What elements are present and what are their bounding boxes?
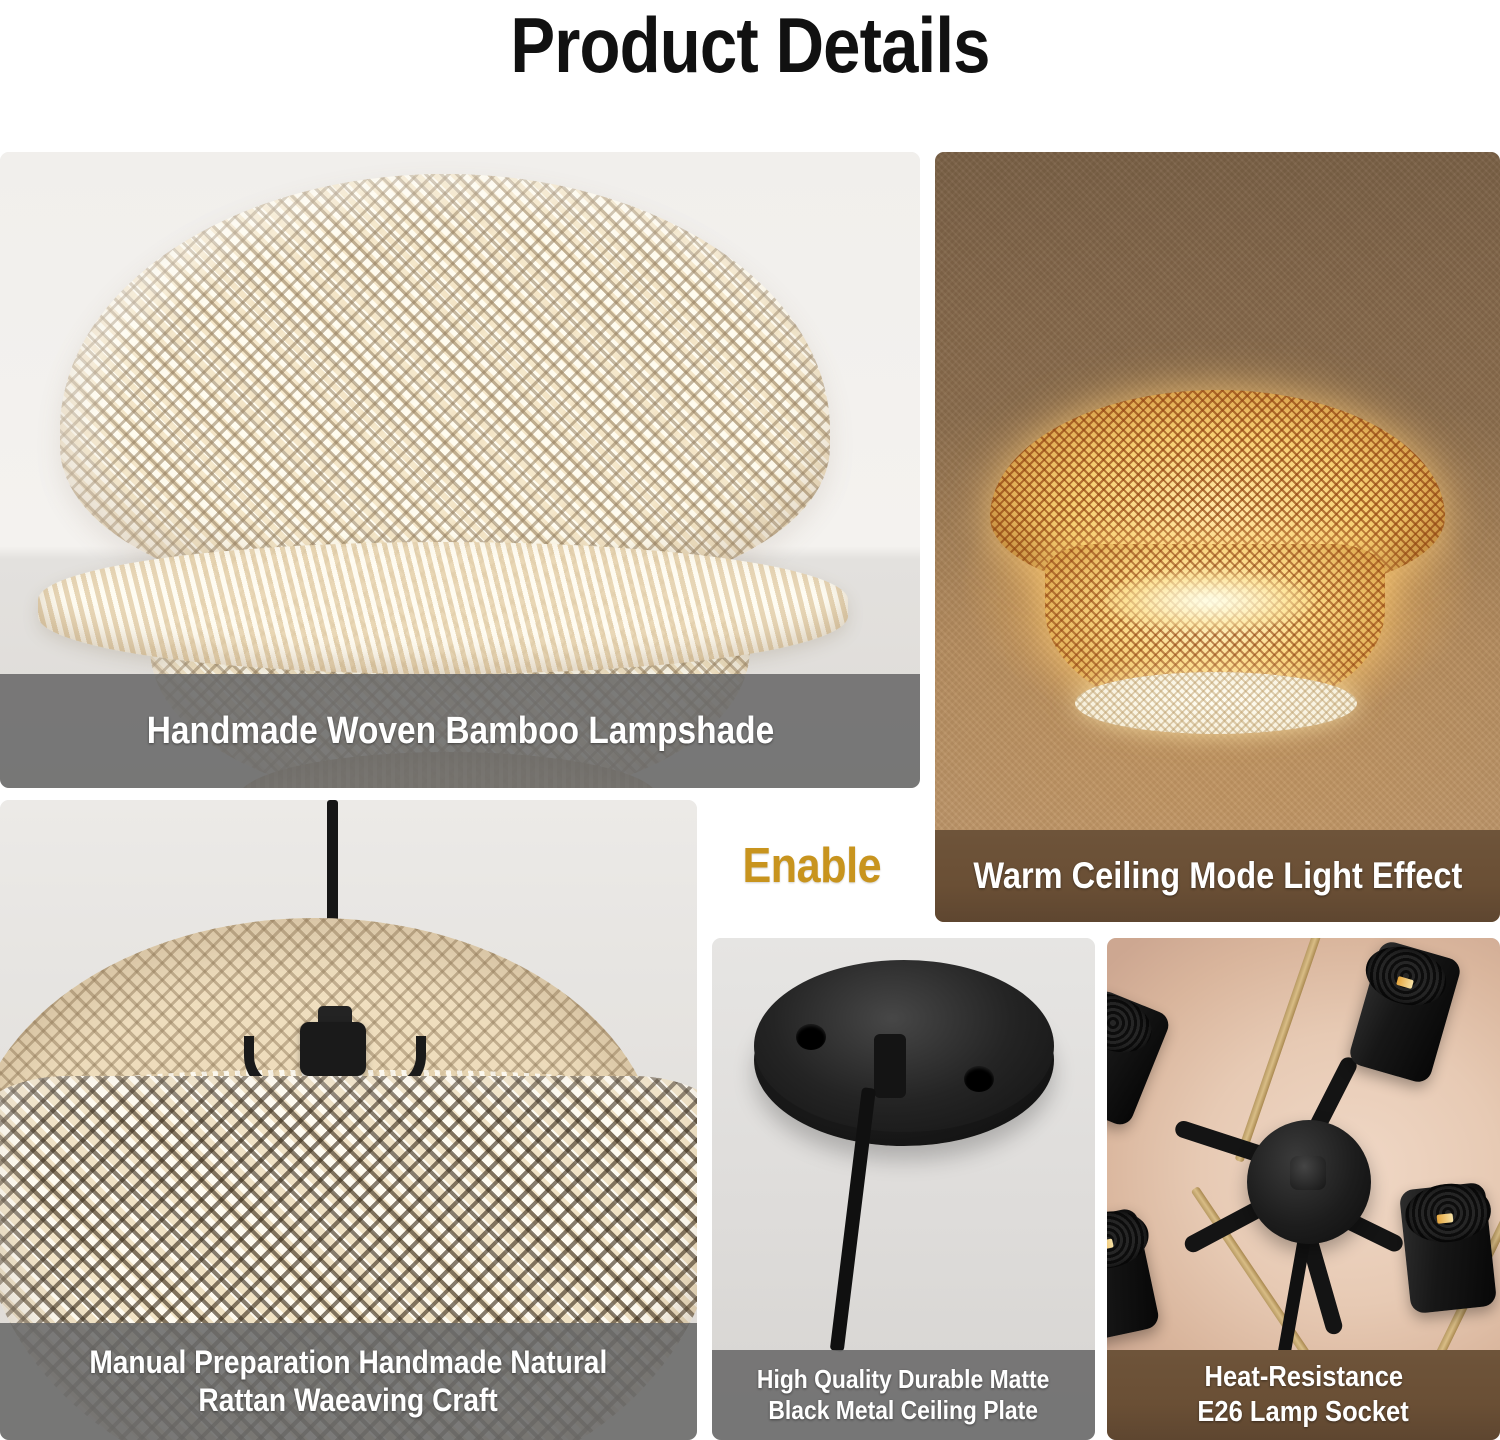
caption-text-line-1: Heat-Resistance [1204,1360,1403,1395]
caption-text-line-2: Black Metal Ceiling Plate [769,1395,1039,1426]
panel-heat-resistance-e26-lamp-socket: Heat-Resistance E26 Lamp Socket [1107,938,1500,1440]
caption-bar-manual-preparation-rattan-weaving-craft: Manual Preparation Handmade Natural Ratt… [0,1323,697,1440]
caption-bar-warm-ceiling-mode-light-effect: Warm Ceiling Mode Light Effect [935,830,1500,922]
enable-label: Enable [733,838,891,894]
photo-warm-ceiling-light-effect [935,152,1500,922]
caption-text: Warm Ceiling Mode Light Effect [973,855,1462,897]
panel-matte-black-metal-ceiling-plate: High Quality Durable Matte Black Metal C… [712,938,1095,1440]
page-title: Product Details [105,0,1395,84]
caption-text-line-2: Rattan Waeaving Craft [199,1382,498,1420]
enable-label-text: Enable [742,838,881,894]
panel-manual-preparation-rattan-weaving-craft: Manual Preparation Handmade Natural Ratt… [0,800,697,1440]
caption-text-line-2: E26 Lamp Socket [1198,1395,1409,1430]
caption-bar-heat-resistance-e26-lamp-socket: Heat-Resistance E26 Lamp Socket [1107,1350,1500,1440]
caption-text: Handmade Woven Bamboo Lampshade [146,710,773,753]
panel-warm-ceiling-mode-light-effect: Warm Ceiling Mode Light Effect [935,152,1500,922]
panel-handmade-woven-bamboo-lampshade: Handmade Woven Bamboo Lampshade [0,152,920,788]
caption-bar-matte-black-metal-ceiling-plate: High Quality Durable Matte Black Metal C… [712,1350,1095,1440]
caption-text-line-1: High Quality Durable Matte [757,1364,1049,1395]
caption-text-line-1: Manual Preparation Handmade Natural [90,1344,608,1382]
caption-bar-handmade-woven-bamboo-lampshade: Handmade Woven Bamboo Lampshade [0,674,920,788]
